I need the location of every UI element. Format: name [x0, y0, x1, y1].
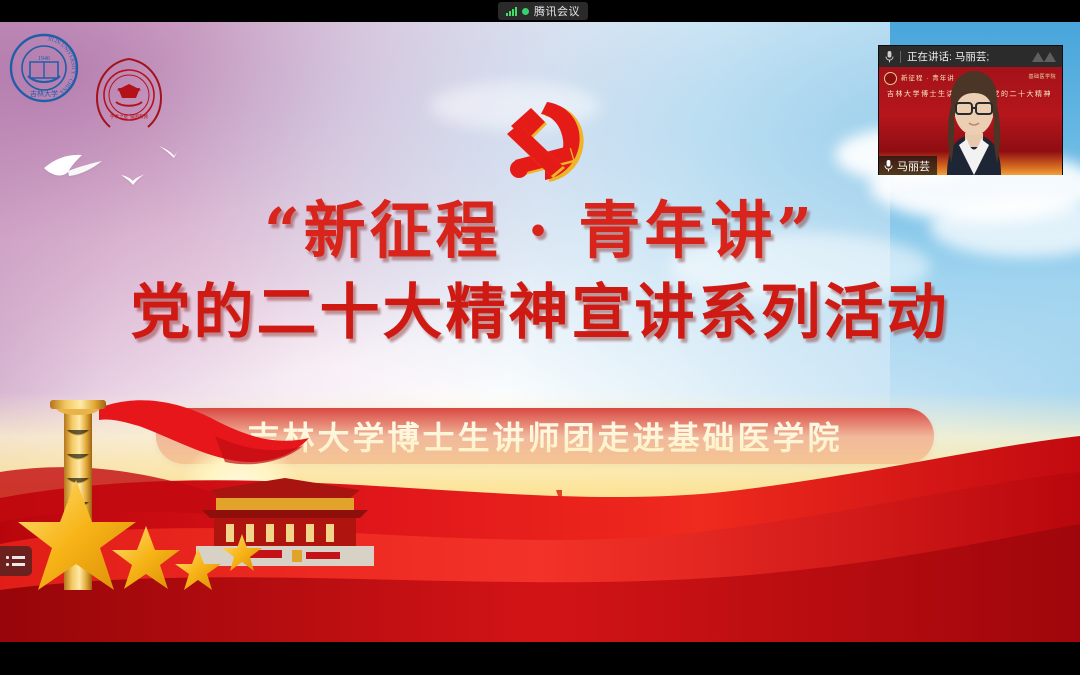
dove-icon	[42, 152, 104, 182]
video-tile-body: 新征程 · 青年讲 吉林大学博士生讲师团走进 党的二十大精神 基础医学院	[879, 67, 1062, 175]
doctoral-lecturer-team-logo: 学术之星 强国有我	[88, 54, 170, 136]
speaking-status-label: 正在讲话: 马丽芸;	[907, 49, 989, 64]
tencent-meeting-logo	[1031, 50, 1057, 63]
microphone-icon	[884, 159, 893, 172]
microphone-icon	[885, 50, 894, 63]
dove-icon	[120, 172, 146, 186]
participant-name-badge: 马丽芸	[879, 156, 937, 175]
list-menu-icon-button[interactable]	[0, 546, 32, 576]
list-menu-icon	[2, 556, 25, 566]
bottom-black-bar	[0, 642, 1080, 675]
signal-bars-icon	[506, 7, 517, 16]
slide-thumb-logo-icon	[884, 72, 897, 85]
jilin-university-logo: 1946 吉林大学 JILIN UNIVERSITY · CHINA	[8, 32, 80, 104]
screen-root: 腾讯会议 1946 吉林大学	[0, 0, 1080, 675]
participant-name: 马丽芸	[897, 158, 930, 174]
dove-icon	[158, 144, 186, 160]
gold-stars	[18, 474, 288, 594]
recording-dot-icon	[522, 8, 529, 15]
meeting-indicator-pill[interactable]: 腾讯会议	[498, 2, 588, 20]
svg-text:吉林大学: 吉林大学	[30, 89, 58, 98]
slide-title-line1: “新征程 · 青年讲”	[0, 192, 1080, 270]
cpc-hammer-sickle-emblem	[487, 96, 605, 194]
svg-text:1946: 1946	[38, 56, 50, 62]
participant-avatar	[931, 71, 1017, 175]
slide-title-block: “新征程 · 青年讲” 党的二十大精神宣讲系列活动	[0, 192, 1080, 352]
video-tile-header: 正在讲话: 马丽芸;	[879, 46, 1062, 67]
meeting-app-name: 腾讯会议	[534, 3, 580, 19]
header-divider	[900, 51, 901, 63]
slide-thumb-corner-text: 基础医学院	[1028, 73, 1056, 80]
svg-text:学术之星 强国有我: 学术之星 强国有我	[110, 113, 149, 120]
speaker-video-tile[interactable]: 正在讲话: 马丽芸; 新征程 · 青年讲 吉林大学博士生讲师团走进 党的二十大精…	[878, 45, 1063, 175]
slide-title-line2: 党的二十大精神宣讲系列活动	[0, 274, 1080, 352]
top-status-bar: 腾讯会议	[0, 0, 1080, 22]
